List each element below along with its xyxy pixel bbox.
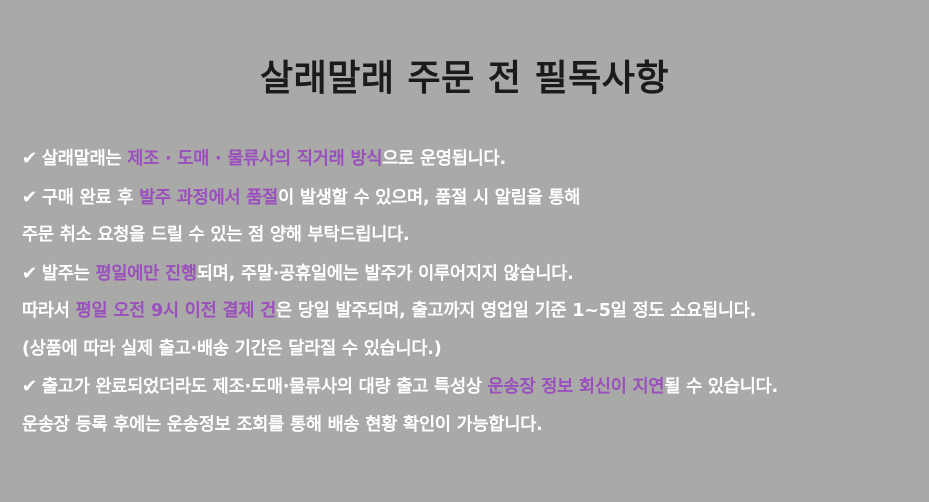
notice-text: 구매 완료 후 (42, 188, 139, 208)
notice-line: ✔출고가 완료되었더라도 제조·도매·물류사의 대량 출고 특성상 운송장 정보… (22, 368, 917, 407)
notice-text: 으로 운영됩니다. (382, 149, 506, 169)
notice-text-highlight: 제조 · 도매 · 물류사의 직거래 방식 (127, 149, 382, 169)
notice-text-highlight: 평일에만 진행 (95, 264, 196, 284)
check-icon: ✔ (22, 179, 38, 217)
notice-text: 주문 취소 요청을 드릴 수 있는 점 양해 부탁드립니다. (22, 225, 410, 245)
notice-text: 살래말래는 (42, 149, 127, 169)
notice-card: 살래말래 주문 전 필독사항 ✔살래말래는 제조 · 도매 · 물류사의 직거래… (0, 0, 929, 502)
notice-text: 이 발생할 수 있으며, 품절 시 알림을 통해 (278, 188, 580, 208)
notice-text: 은 당일 발주되며, 출고까지 영업일 기준 1~5일 정도 소요됩니다. (276, 301, 756, 321)
notice-text: 될 수 있습니다. (664, 377, 778, 397)
notice-text: 출고가 완료되었더라도 제조·도매·물류사의 대량 출고 특성상 (42, 377, 488, 397)
notice-text: 되며, 주말·공휴일에는 발주가 이루어지지 않습니다. (197, 264, 574, 284)
notice-text: 따라서 (22, 301, 76, 321)
notice-text: (상품에 따라 실제 출고·배송 기간은 달라질 수 있습니다.) (22, 339, 442, 359)
notice-line: ✔구매 완료 후 발주 과정에서 품절이 발생할 수 있으며, 품절 시 알림을… (22, 179, 917, 218)
notice-line: ✔살래말래는 제조 · 도매 · 물류사의 직거래 방식으로 운영됩니다. (22, 140, 917, 179)
check-icon: ✔ (22, 140, 38, 178)
notice-line: 운송장 등록 후에는 운송정보 조회를 통해 배송 현황 확인이 가능합니다. (22, 407, 917, 445)
notice-text-highlight: 운송장 정보 회신이 지연 (488, 377, 665, 397)
notice-text: 운송장 등록 후에는 운송정보 조회를 통해 배송 현황 확인이 가능합니다. (22, 415, 543, 435)
check-icon: ✔ (22, 368, 38, 406)
notice-line: 주문 취소 요청을 드릴 수 있는 점 양해 부탁드립니다. (22, 217, 917, 255)
notice-text: 발주는 (42, 264, 96, 284)
notice-line: ✔발주는 평일에만 진행되며, 주말·공휴일에는 발주가 이루어지지 않습니다. (22, 255, 917, 294)
notice-text-highlight: 평일 오전 9시 이전 결제 건 (76, 301, 276, 321)
notice-line: (상품에 따라 실제 출고·배송 기간은 달라질 수 있습니다.) (22, 331, 917, 369)
notice-text-highlight: 발주 과정에서 품절 (139, 188, 278, 208)
notice-body: ✔살래말래는 제조 · 도매 · 물류사의 직거래 방식으로 운영됩니다.✔구매… (22, 140, 917, 444)
check-icon: ✔ (22, 255, 38, 293)
page-title: 살래말래 주문 전 필독사항 (0, 55, 929, 103)
notice-line: 따라서 평일 오전 9시 이전 결제 건은 당일 발주되며, 출고까지 영업일 … (22, 293, 917, 331)
